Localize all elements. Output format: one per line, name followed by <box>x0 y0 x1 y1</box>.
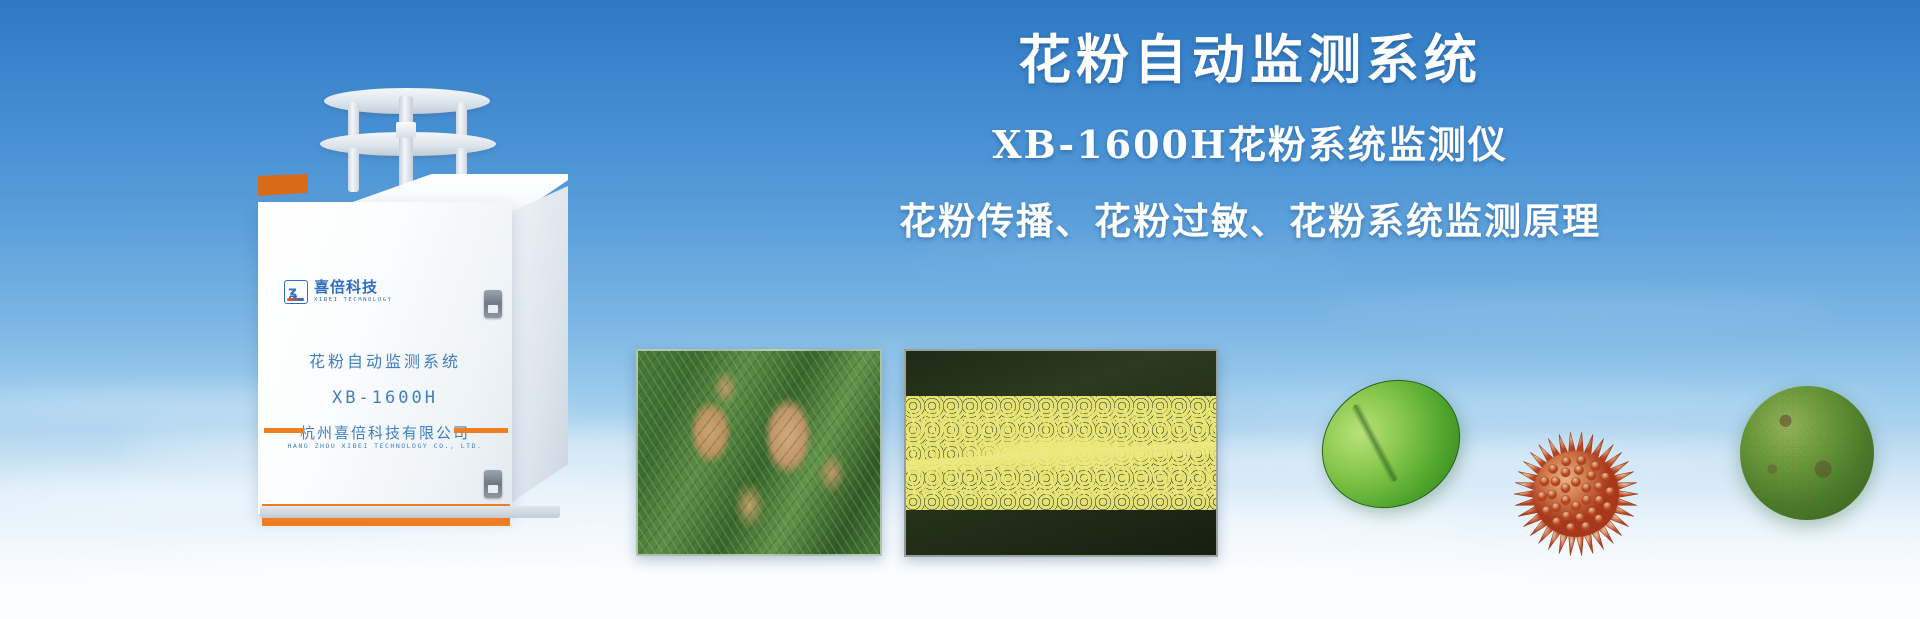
device-company-en: HANG ZHOU XIBEI TECHNOLOGY CO., LTD. <box>258 442 512 450</box>
page-title: 花粉自动监测系统 <box>720 28 1780 94</box>
pollen-grain-body <box>1740 386 1874 520</box>
spiky-pollen-svg <box>1510 428 1642 560</box>
device-cabinet: ʓ 喜倍科技 XIBEI TECHNOLOGY 花粉自动监测系统 XB-1600… <box>258 174 568 526</box>
page-subtitle: XB-1600H花粉系统监测仪 <box>720 114 1780 169</box>
cabinet-base <box>260 506 560 518</box>
green-mottled-pollen-grain <box>1740 386 1874 520</box>
logo-name-cn: 喜倍科技 <box>314 280 393 295</box>
brand-logo: ʓ 喜倍科技 XIBEI TECHNOLOGY <box>284 280 393 304</box>
xibei-logo-icon: ʓ <box>284 280 308 304</box>
page-tagline: 花粉传播、花粉过敏、花粉系统监测原理 <box>720 191 1780 245</box>
pollen-monitoring-banner: 花粉自动监测系统 XB-1600H花粉系统监测仪 花粉传播、花粉过敏、花粉系统监… <box>0 0 1920 619</box>
green-ellipsoid-pollen-grain <box>1320 382 1460 504</box>
cabinet-side-face <box>512 186 568 502</box>
logo-underbar <box>287 298 304 301</box>
banner-heading-group: 花粉自动监测系统 XB-1600H花粉系统监测仪 花粉传播、花粉过敏、花粉系统监… <box>720 28 1780 245</box>
logo-name-en: XIBEI TECHNOLOGY <box>314 298 393 304</box>
device-illustration: ʓ 喜倍科技 XIBEI TECHNOLOGY 花粉自动监测系统 XB-1600… <box>258 88 568 528</box>
cloud-wisp <box>900 250 1360 264</box>
door-latch-upper-icon <box>484 290 502 318</box>
cabinet-front-face: ʓ 喜倍科技 XIBEI TECHNOLOGY 花粉自动监测系统 XB-1600… <box>258 202 512 514</box>
cloud-wisp <box>1320 300 1840 316</box>
spiky-orange-pollen-grain <box>1510 428 1642 560</box>
cedar-cone-texture <box>638 351 880 554</box>
sampling-inlet-head-icon <box>306 88 506 178</box>
door-latch-lower-icon <box>484 470 502 498</box>
orange-accent-stripe-side <box>258 174 308 196</box>
inlet-nozzle <box>396 122 416 138</box>
pollen-grain-texture <box>1740 386 1874 520</box>
logo-text: 喜倍科技 XIBEI TECHNOLOGY <box>314 280 393 304</box>
device-front-title: 花粉自动监测系统 <box>258 348 512 372</box>
yellow-catkin-photo <box>904 349 1218 557</box>
orange-accent-stripe-right <box>454 428 508 433</box>
device-model-label: XB-1600H <box>258 388 512 408</box>
orange-accent-stripe-left <box>264 428 304 433</box>
catkin-anthers <box>906 396 1216 510</box>
pollen-grain-body <box>1299 356 1483 532</box>
cedar-pollen-cones-photo <box>636 349 882 556</box>
